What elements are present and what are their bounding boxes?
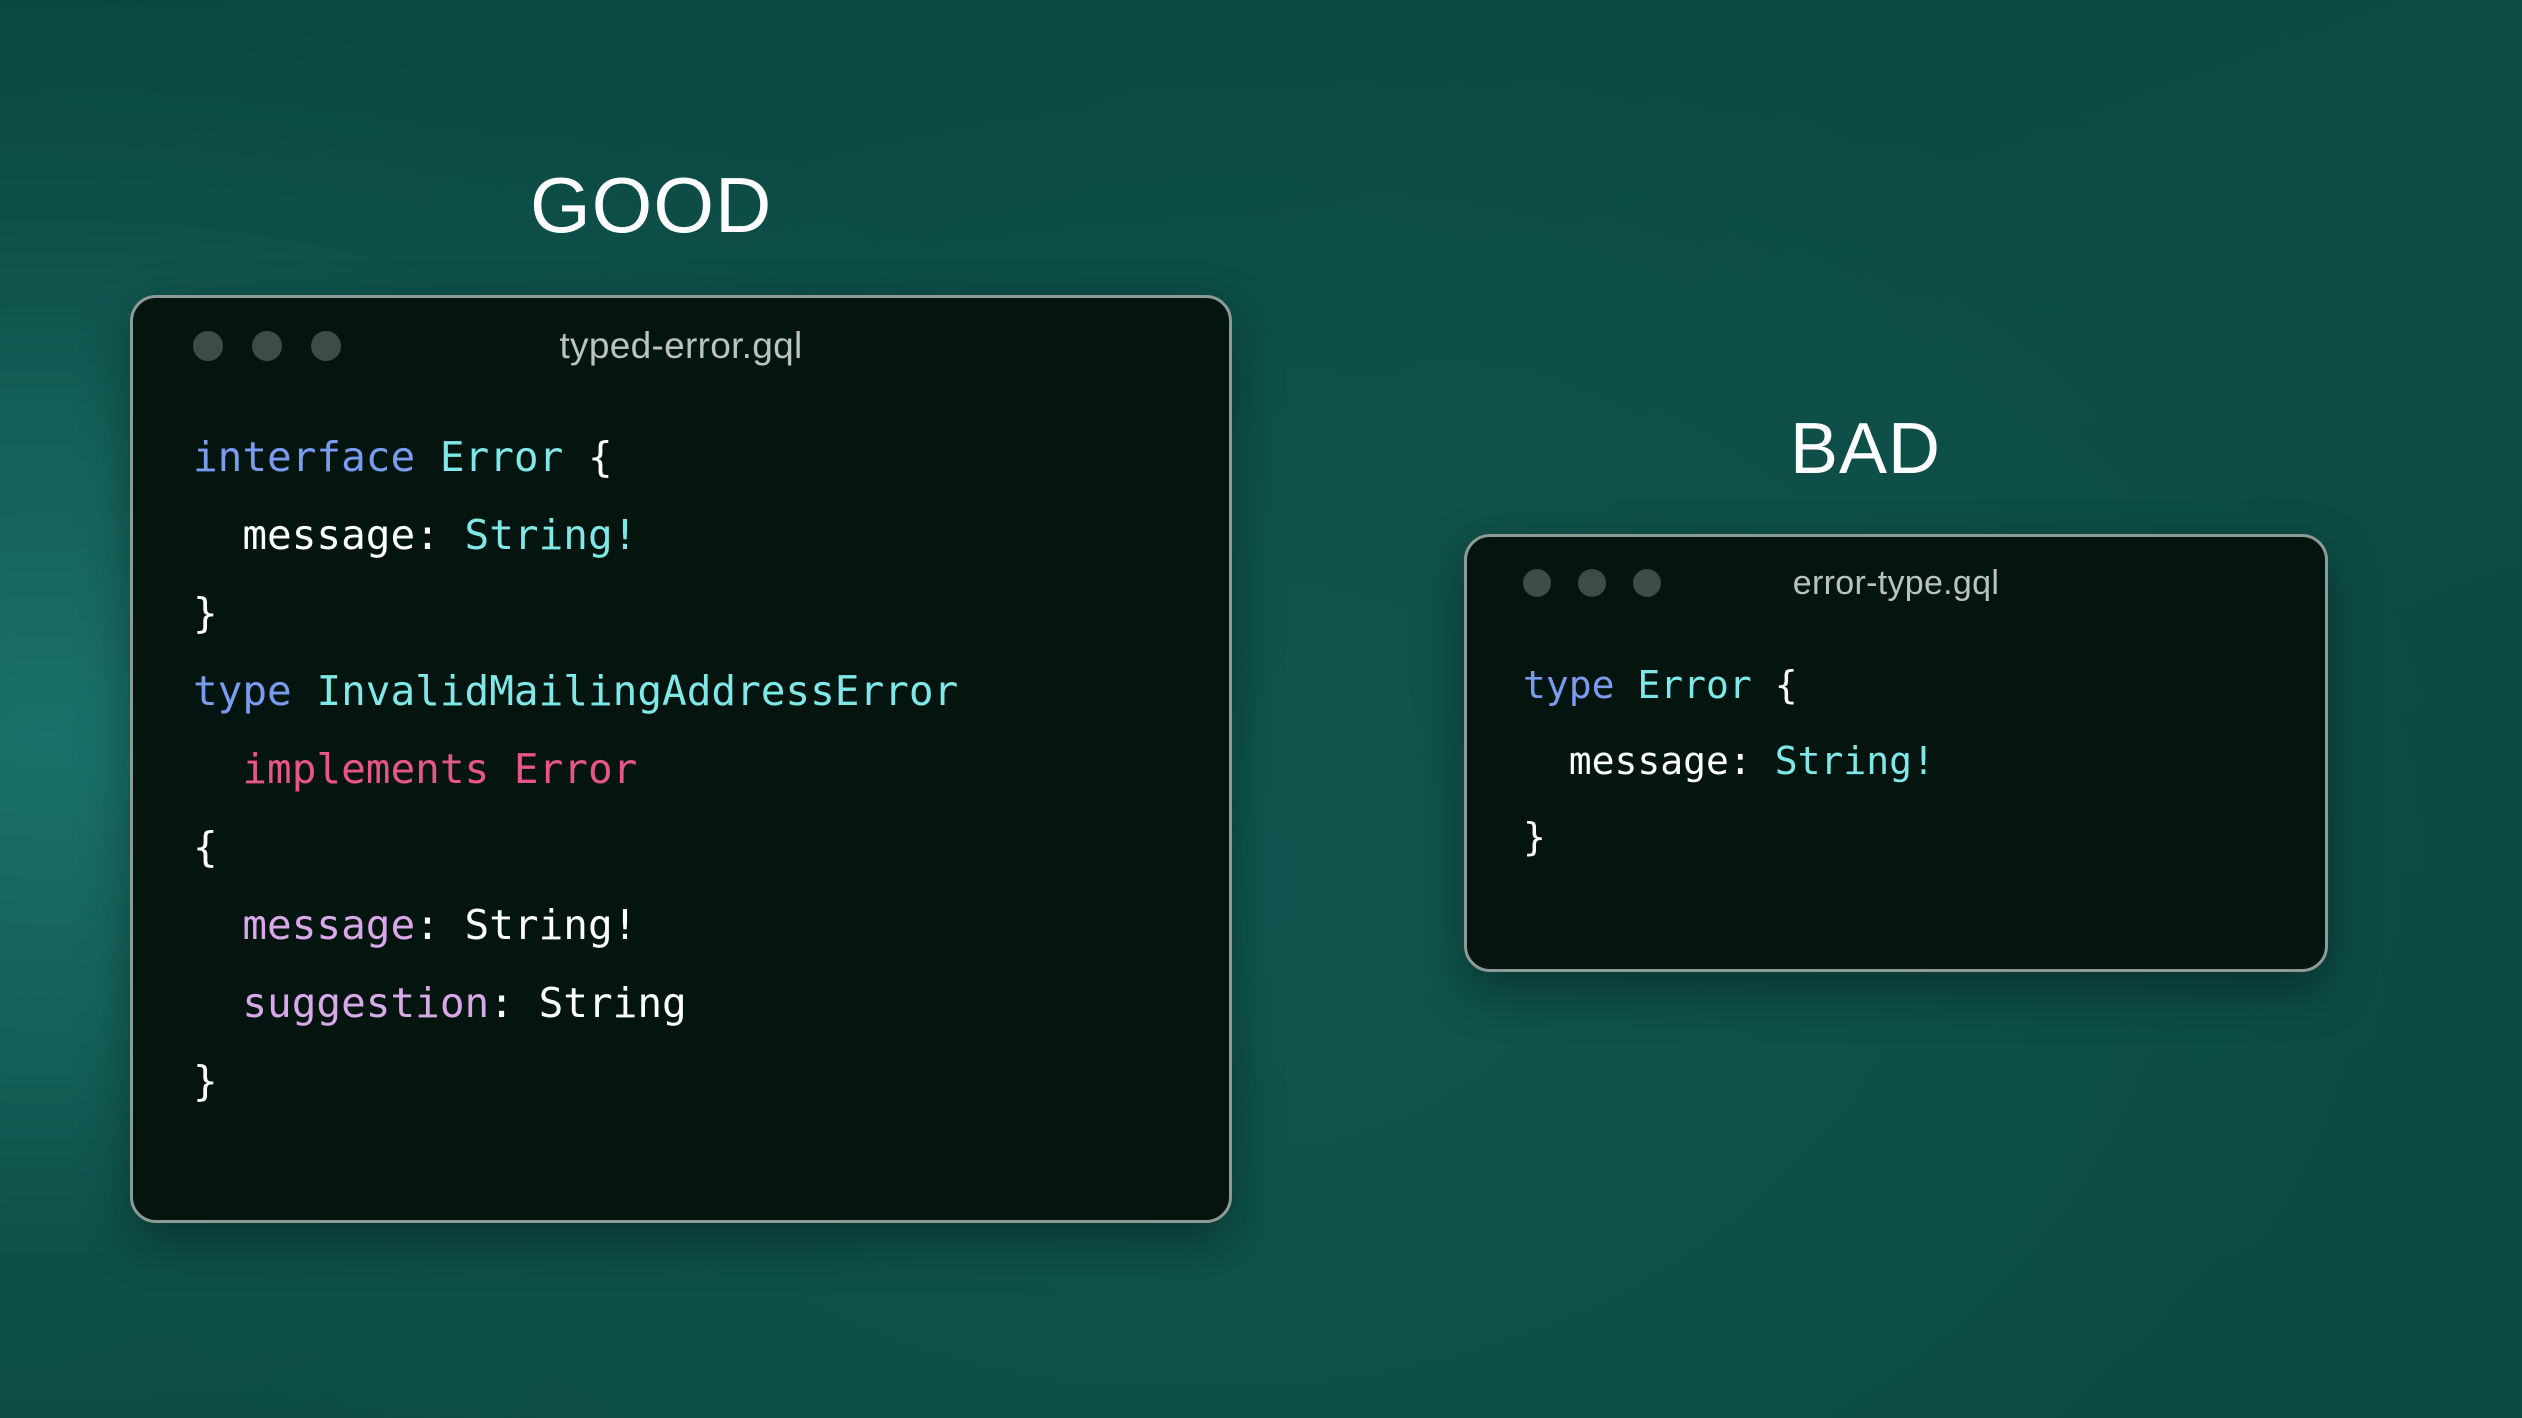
code-token — [1523, 739, 1569, 783]
code-token: { — [193, 823, 218, 871]
code-token: { — [1775, 663, 1798, 707]
code-token: Error — [440, 433, 563, 481]
maximize-dot-icon[interactable] — [1633, 569, 1661, 597]
code-token: String — [539, 979, 687, 1027]
code-token: { — [588, 433, 613, 481]
code-line: } — [193, 1042, 1229, 1120]
code-token — [415, 433, 440, 481]
code-token: String! — [1775, 739, 1935, 783]
code-token: message — [1569, 739, 1729, 783]
minimize-dot-icon[interactable] — [1578, 569, 1606, 597]
bad-window-controls — [1523, 569, 1661, 597]
bad-heading: BAD — [1790, 408, 1941, 490]
code-token — [563, 433, 588, 481]
code-token — [193, 979, 242, 1027]
good-code-card: typed-error.gql interface Error { messag… — [130, 295, 1232, 1223]
code-token — [1752, 663, 1775, 707]
code-token: InvalidMailingAddressError — [316, 667, 958, 715]
code-line: type InvalidMailingAddressError — [193, 652, 1229, 730]
bad-card-code: type Error { message: String!} — [1467, 629, 2325, 875]
code-token: Error — [1637, 663, 1751, 707]
code-token — [193, 511, 242, 559]
code-token: } — [193, 589, 218, 637]
code-token — [292, 667, 317, 715]
code-token: interface — [193, 433, 415, 481]
code-token: message — [242, 511, 415, 559]
code-token: : — [1729, 739, 1775, 783]
code-token — [193, 745, 242, 793]
code-line: message: String! — [1523, 723, 2325, 799]
code-token: String! — [465, 901, 638, 949]
good-card-code: interface Error { message: String!}type … — [133, 394, 1229, 1120]
code-line: implements Error — [193, 730, 1229, 808]
good-card-titlebar: typed-error.gql — [133, 298, 1229, 394]
code-token: String! — [465, 511, 638, 559]
code-token: : — [489, 979, 538, 1027]
maximize-dot-icon[interactable] — [311, 331, 341, 361]
minimize-dot-icon[interactable] — [252, 331, 282, 361]
code-token: : — [415, 901, 464, 949]
code-line: message: String! — [193, 496, 1229, 574]
code-line: { — [193, 808, 1229, 886]
close-dot-icon[interactable] — [1523, 569, 1551, 597]
slide-canvas: GOOD typed-error.gql interface Error { m… — [0, 0, 2522, 1418]
code-line: message: String! — [193, 886, 1229, 964]
bad-code-card: error-type.gql type Error { message: Str… — [1464, 534, 2328, 972]
bad-card-titlebar: error-type.gql — [1467, 537, 2325, 629]
code-token — [1615, 663, 1638, 707]
code-token: type — [1523, 663, 1615, 707]
code-line: } — [1523, 799, 2325, 875]
close-dot-icon[interactable] — [193, 331, 223, 361]
code-token: type — [193, 667, 292, 715]
code-token — [193, 901, 242, 949]
code-line: } — [193, 574, 1229, 652]
code-token: : — [415, 511, 464, 559]
code-token: implements Error — [242, 745, 637, 793]
code-token: } — [1523, 815, 1546, 859]
code-token: suggestion — [242, 979, 489, 1027]
good-window-controls — [193, 331, 341, 361]
code-token: } — [193, 1057, 218, 1105]
code-token: message — [242, 901, 415, 949]
code-line: interface Error { — [193, 418, 1229, 496]
code-line: suggestion: String — [193, 964, 1229, 1042]
code-line: type Error { — [1523, 647, 2325, 723]
good-heading: GOOD — [530, 160, 772, 251]
